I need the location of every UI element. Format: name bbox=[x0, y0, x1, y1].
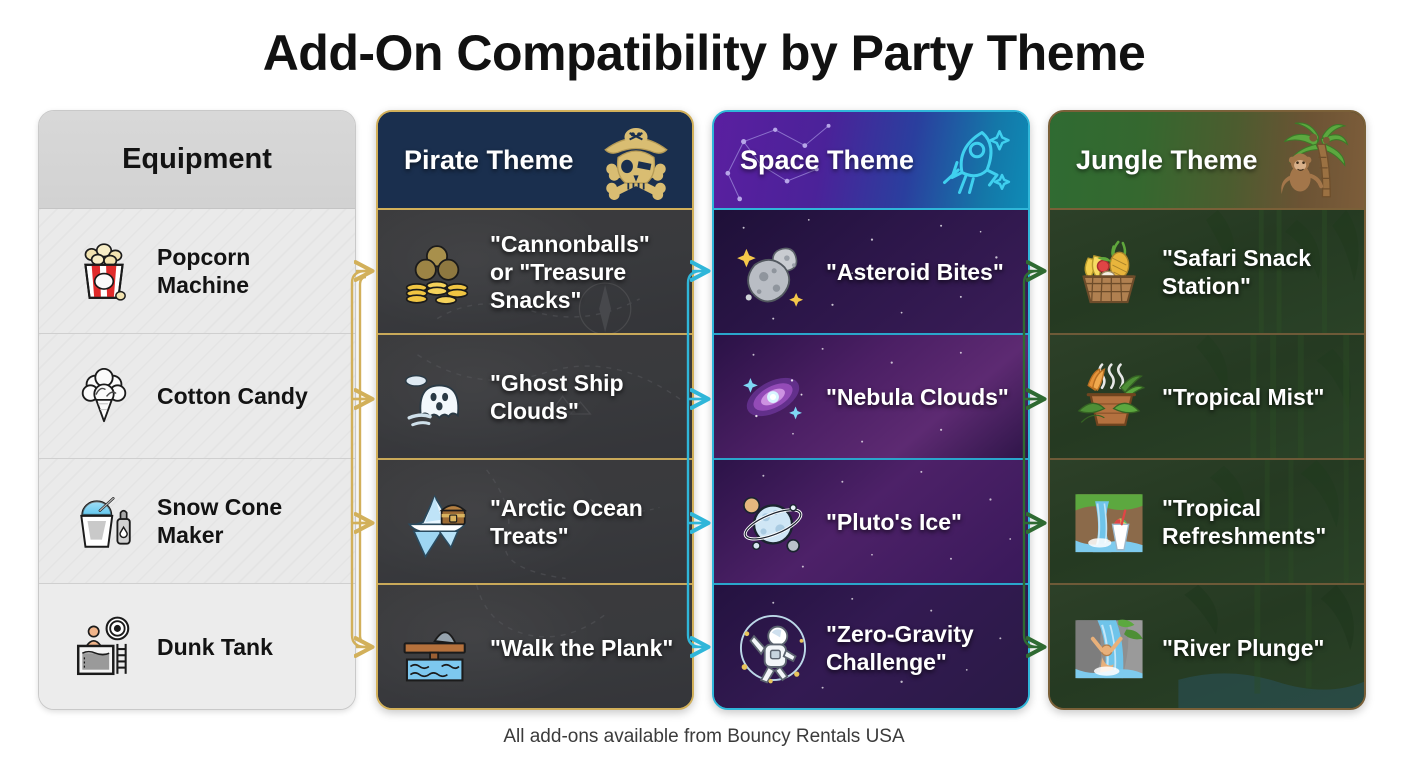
jungle-row-label: "Tropical Refreshments" bbox=[1162, 494, 1347, 550]
equipment-column: Equipment Popcorn Machine bbox=[38, 110, 356, 710]
space-row-label: "Nebula Clouds" bbox=[826, 383, 1009, 411]
pirate-row-label: "Arctic Ocean Treats" bbox=[490, 494, 675, 550]
pirate-row-ghost-ship-clouds[interactable]: "Ghost Ship Clouds" bbox=[378, 335, 692, 460]
planet-icon bbox=[734, 483, 812, 561]
rocket-icon bbox=[930, 118, 1014, 202]
palm-tree-monkey-icon bbox=[1266, 118, 1350, 202]
jungle-row-label: "River Plunge" bbox=[1162, 634, 1324, 662]
pirate-skull-icon bbox=[594, 118, 678, 202]
astronaut-icon bbox=[734, 609, 812, 687]
space-theme-header: Space Theme bbox=[714, 112, 1028, 210]
pirate-row-arctic-ocean-treats[interactable]: "Arctic Ocean Treats" bbox=[378, 460, 692, 585]
space-row-asteroid-bites[interactable]: "Asteroid Bites" bbox=[714, 210, 1028, 335]
equipment-row-snow-cone-maker[interactable]: Snow Cone Maker bbox=[39, 459, 355, 584]
jungle-row-river-plunge[interactable]: "River Plunge" bbox=[1050, 585, 1364, 710]
space-row-label: "Zero-Gravity Challenge" bbox=[826, 620, 1011, 676]
space-theme-column: Space Theme bbox=[712, 110, 1030, 710]
equipment-header: Equipment bbox=[39, 111, 355, 209]
space-row-plutos-ice[interactable]: "Pluto's Ice" bbox=[714, 460, 1028, 585]
pirate-row-label: "Cannonballs" or "Treasure Snacks" bbox=[490, 230, 675, 314]
jungle-theme-header-label: Jungle Theme bbox=[1076, 145, 1258, 176]
space-row-nebula-clouds[interactable]: "Nebula Clouds" bbox=[714, 335, 1028, 460]
equipment-row-label: Cotton Candy bbox=[157, 382, 308, 410]
iceberg-treasure-icon bbox=[398, 483, 476, 561]
ghost-icon bbox=[398, 358, 476, 436]
waterfall-plunge-icon bbox=[1070, 609, 1148, 687]
equipment-row-dunk-tank[interactable]: Dunk Tank bbox=[39, 584, 355, 709]
jungle-row-label: "Safari Snack Station" bbox=[1162, 244, 1347, 300]
steaming-pot-icon bbox=[1070, 358, 1148, 436]
pirate-theme-header: Pirate Theme bbox=[378, 112, 692, 210]
pirate-theme-header-label: Pirate Theme bbox=[404, 145, 574, 176]
space-row-zero-gravity-challenge[interactable]: "Zero-Gravity Challenge" bbox=[714, 585, 1028, 710]
dunk-tank-icon bbox=[67, 610, 141, 684]
pirate-row-cannonballs[interactable]: "Cannonballs" or "Treasure Snacks" bbox=[378, 210, 692, 335]
jungle-row-tropical-refreshments[interactable]: "Tropical Refreshments" bbox=[1050, 460, 1364, 585]
popcorn-machine-icon bbox=[67, 234, 141, 308]
jungle-theme-column: Jungle Theme bbox=[1048, 110, 1366, 710]
equipment-row-cotton-candy[interactable]: Cotton Candy bbox=[39, 334, 355, 459]
footer-note: All add-ons available from Bouncy Rental… bbox=[0, 726, 1408, 748]
shark-plank-icon bbox=[398, 609, 476, 687]
fruit-basket-icon bbox=[1070, 233, 1148, 311]
nebula-icon bbox=[734, 358, 812, 436]
waterfall-snowcone-icon bbox=[1070, 483, 1148, 561]
jungle-row-label: "Tropical Mist" bbox=[1162, 383, 1324, 411]
pirate-row-walk-the-plank[interactable]: "Walk the Plank" bbox=[378, 585, 692, 710]
jungle-row-tropical-mist[interactable]: "Tropical Mist" bbox=[1050, 335, 1364, 460]
page-title: Add-On Compatibility by Party Theme bbox=[0, 20, 1408, 86]
equipment-row-label: Snow Cone Maker bbox=[157, 493, 332, 549]
cotton-candy-icon bbox=[67, 359, 141, 433]
space-row-label: "Asteroid Bites" bbox=[826, 258, 1004, 286]
equipment-header-label: Equipment bbox=[122, 143, 272, 176]
pirate-row-label: "Walk the Plank" bbox=[490, 634, 673, 662]
equipment-row-popcorn-machine[interactable]: Popcorn Machine bbox=[39, 209, 355, 334]
equipment-row-label: Popcorn Machine bbox=[157, 243, 332, 299]
space-theme-header-label: Space Theme bbox=[740, 145, 914, 176]
space-row-label: "Pluto's Ice" bbox=[826, 508, 962, 536]
pirate-theme-column: Pirate Theme bbox=[376, 110, 694, 710]
jungle-theme-header: Jungle Theme bbox=[1050, 112, 1364, 210]
jungle-row-safari-snack-station[interactable]: "Safari Snack Station" bbox=[1050, 210, 1364, 335]
gold-coins-icon bbox=[398, 233, 476, 311]
equipment-row-label: Dunk Tank bbox=[157, 633, 273, 661]
pirate-row-label: "Ghost Ship Clouds" bbox=[490, 369, 675, 425]
asteroid-icon bbox=[734, 233, 812, 311]
snow-cone-maker-icon bbox=[67, 484, 141, 558]
comparison-board: Equipment Popcorn Machine bbox=[38, 110, 1370, 710]
